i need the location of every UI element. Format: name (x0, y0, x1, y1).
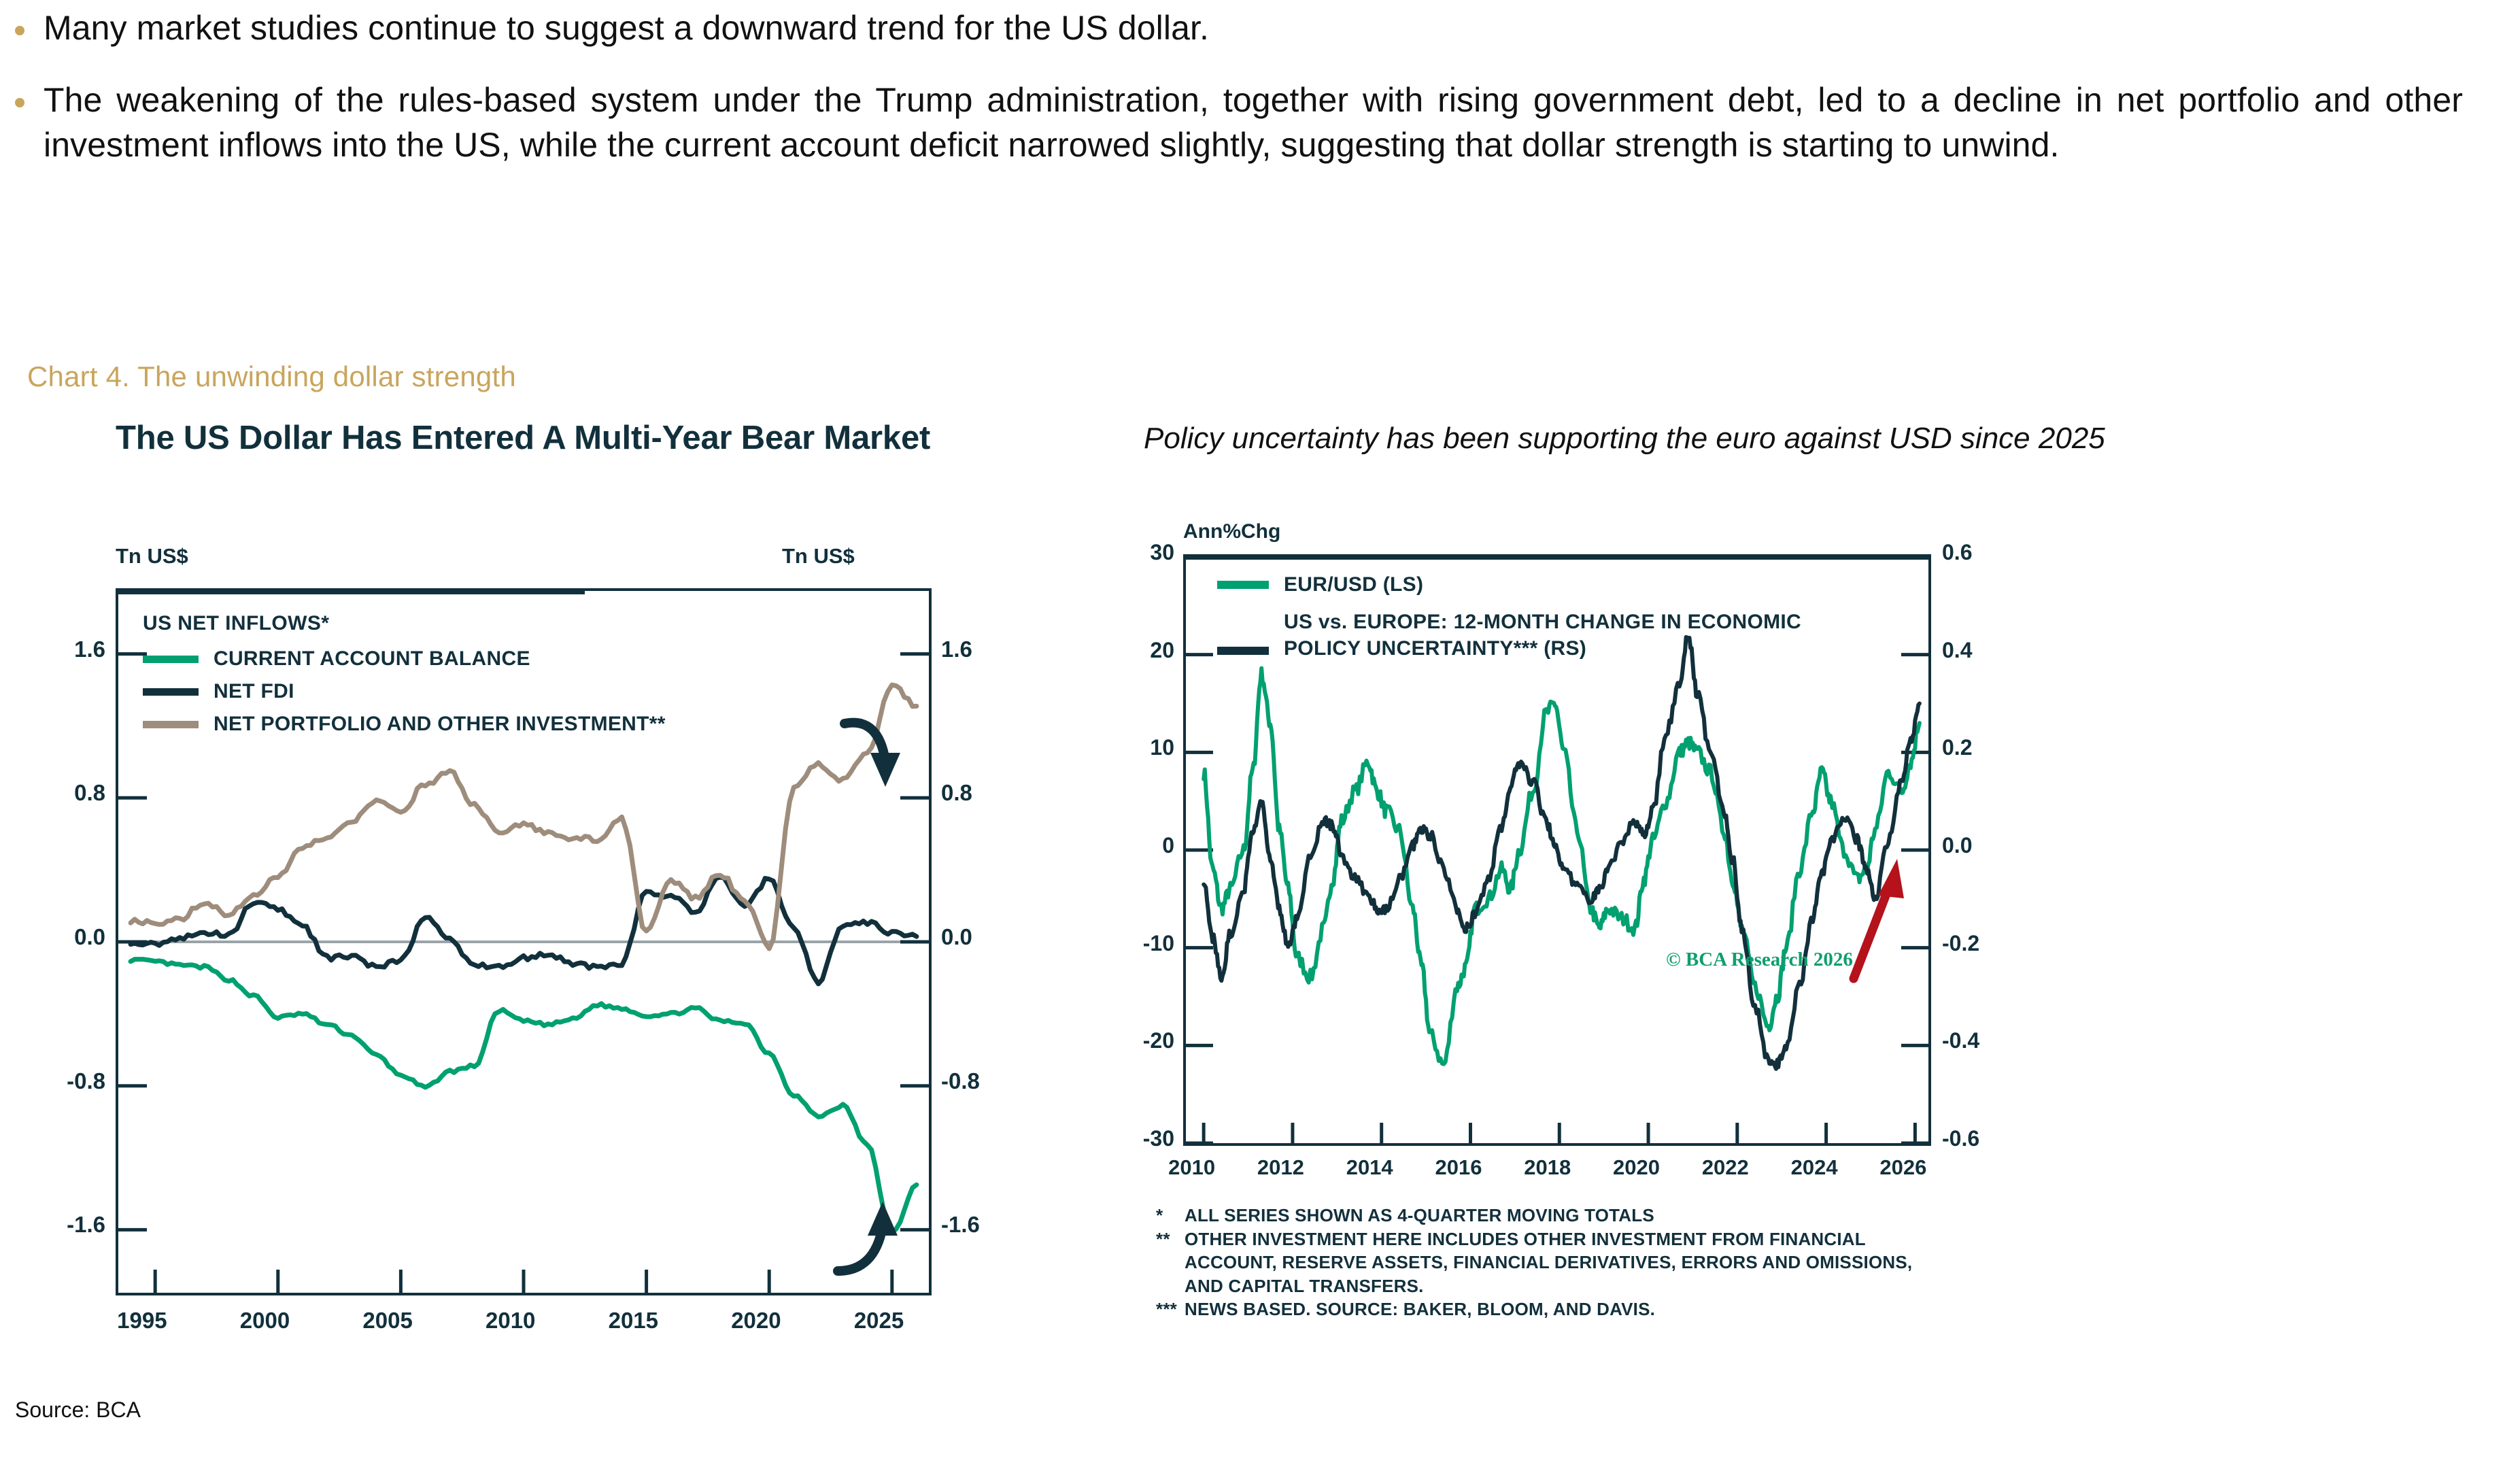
curved-arrow-down-icon (845, 723, 900, 787)
bullet-dot-icon (15, 98, 24, 107)
left-x-tick-label: 2015 (609, 1308, 658, 1334)
left-y2-tick-label: 0.8 (941, 780, 972, 806)
right-x-tick-label: 2026 (1879, 1155, 1926, 1180)
left-y-tick-label: 0.8 (37, 780, 105, 806)
footnote-mark: * (1156, 1204, 1185, 1227)
right-chart-legend: EUR/USD (LS) US vs. EUROPE: 12-MONTH CHA… (1217, 573, 1848, 671)
left-y-tick-label: 0.0 (37, 924, 105, 950)
left-chart-top-rule (116, 588, 585, 594)
left-chart-panel: The US Dollar Has Entered A Multi-Year B… (27, 418, 1027, 1357)
bullet-item: Many market studies continue to suggest … (15, 5, 2463, 50)
right-y-tick-label: 10 (1112, 735, 1174, 760)
right-x-tick-label: 2012 (1257, 1155, 1304, 1180)
legend-label: EUR/USD (LS) (1284, 573, 1423, 596)
right-y-tick-label: 0 (1112, 833, 1174, 858)
right-chart-panel: Policy uncertainty has been supporting t… (1129, 418, 2115, 1391)
right-y-tick-label: 30 (1112, 540, 1174, 565)
right-chart-footnotes: * ALL SERIES SHOWN AS 4-QUARTER MOVING T… (1156, 1204, 2108, 1321)
legend-header: US NET INFLOWS* (143, 612, 666, 635)
legend-item-policy-uncertainty: US vs. EUROPE: 12-MONTH CHANGE IN ECONOM… (1217, 609, 1848, 662)
legend-label: US vs. EUROPE: 12-MONTH CHANGE IN ECONOM… (1284, 609, 1848, 662)
left-x-tick-label: 2020 (731, 1308, 781, 1334)
legend-swatch (143, 721, 199, 728)
left-y2-tick-label: -0.8 (941, 1068, 980, 1094)
right-x-tick-label: 2016 (1435, 1155, 1482, 1180)
bullet-dot-icon (15, 26, 24, 35)
bullet-list: Many market studies continue to suggest … (15, 5, 2463, 194)
footnote-text: NEWS BASED. SOURCE: BAKER, BLOOM, AND DA… (1185, 1298, 2108, 1321)
left-y2-tick-label: 1.6 (941, 637, 972, 662)
curved-arrow-up-icon (838, 1202, 898, 1271)
right-y2-tick-label: 0.6 (1942, 540, 1972, 565)
legend-swatch (1217, 581, 1269, 589)
left-x-tick-label: 2000 (240, 1308, 290, 1334)
right-x-tick-label: 2010 (1168, 1155, 1215, 1180)
left-y2-tick-label: -1.6 (941, 1212, 980, 1238)
right-y2-tick-label: -0.6 (1942, 1126, 1979, 1151)
right-x-tick-label: 2024 (1791, 1155, 1838, 1180)
right-y-tick-label: 20 (1112, 638, 1174, 663)
left-y-tick-label: 1.6 (37, 637, 105, 662)
right-chart-top-rule (1183, 554, 1931, 560)
right-y2-tick-label: 0.0 (1942, 833, 1972, 858)
footnote-mark: *** (1156, 1298, 1185, 1321)
right-y-tick-label: -30 (1112, 1126, 1174, 1151)
left-y-tick-label: -1.6 (37, 1212, 105, 1238)
legend-label: NET PORTFOLIO AND OTHER INVESTMENT** (214, 713, 666, 736)
left-x-tick-label: 2010 (486, 1308, 535, 1334)
legend-item-current-account: CURRENT ACCOUNT BALANCE (143, 647, 666, 671)
right-y2-tick-label: 0.4 (1942, 638, 1972, 663)
right-chart-title: Policy uncertainty has been supporting t… (1144, 418, 2232, 459)
legend-label: NET FDI (214, 680, 294, 703)
left-chart-legend: US NET INFLOWS* CURRENT ACCOUNT BALANCE … (143, 612, 666, 745)
legend-label: CURRENT ACCOUNT BALANCE (214, 647, 530, 671)
legend-swatch (1217, 647, 1269, 655)
right-y2-tick-label: -0.4 (1942, 1028, 1979, 1053)
left-x-tick-label: 2025 (854, 1308, 904, 1334)
right-y-tick-label: -20 (1112, 1028, 1174, 1053)
left-y2-tick-label: 0.0 (941, 924, 972, 950)
footnote: *** NEWS BASED. SOURCE: BAKER, BLOOM, AN… (1156, 1298, 2108, 1321)
footnote-text: OTHER INVESTMENT HERE INCLUDES OTHER INV… (1185, 1227, 1926, 1298)
bullet-item: The weakening of the rules-based system … (15, 78, 2463, 167)
right-y2-tick-label: 0.2 (1942, 735, 1972, 760)
right-y-tick-label: -10 (1112, 931, 1174, 956)
legend-item-net-fdi: NET FDI (143, 680, 666, 703)
left-chart-unit-left: Tn US$ (116, 544, 188, 569)
footnote-mark: ** (1156, 1227, 1185, 1298)
bca-copyright: © BCA Research 2026 (1666, 949, 1853, 971)
legend-swatch (143, 656, 199, 663)
left-chart-unit-right: Tn US$ (782, 544, 855, 569)
right-x-tick-label: 2020 (1613, 1155, 1660, 1180)
legend-item-net-portfolio: NET PORTFOLIO AND OTHER INVESTMENT** (143, 713, 666, 736)
right-chart-unit: Ann%Chg (1183, 520, 1280, 543)
left-x-tick-label: 2005 (362, 1308, 412, 1334)
bullet-text-2: The weakening of the rules-based system … (44, 78, 2463, 167)
source-note: Source: BCA (15, 1397, 141, 1423)
right-x-tick-label: 2014 (1346, 1155, 1393, 1180)
footnote: * ALL SERIES SHOWN AS 4-QUARTER MOVING T… (1156, 1204, 2108, 1227)
right-x-tick-label: 2022 (1702, 1155, 1749, 1180)
left-chart-title: The US Dollar Has Entered A Multi-Year B… (116, 418, 972, 459)
footnote: ** OTHER INVESTMENT HERE INCLUDES OTHER … (1156, 1227, 2108, 1298)
footnote-text: ALL SERIES SHOWN AS 4-QUARTER MOVING TOT… (1185, 1204, 2108, 1227)
left-y-tick-label: -0.8 (37, 1068, 105, 1094)
chart-caption: Chart 4. The unwinding dollar strength (27, 360, 516, 393)
legend-item-eurusd: EUR/USD (LS) (1217, 573, 1848, 596)
left-x-tick-label: 1995 (117, 1308, 167, 1334)
right-x-tick-label: 2018 (1524, 1155, 1571, 1180)
bullet-text-1: Many market studies continue to suggest … (44, 5, 2463, 50)
legend-swatch (143, 688, 199, 696)
right-y2-tick-label: -0.2 (1942, 931, 1979, 956)
